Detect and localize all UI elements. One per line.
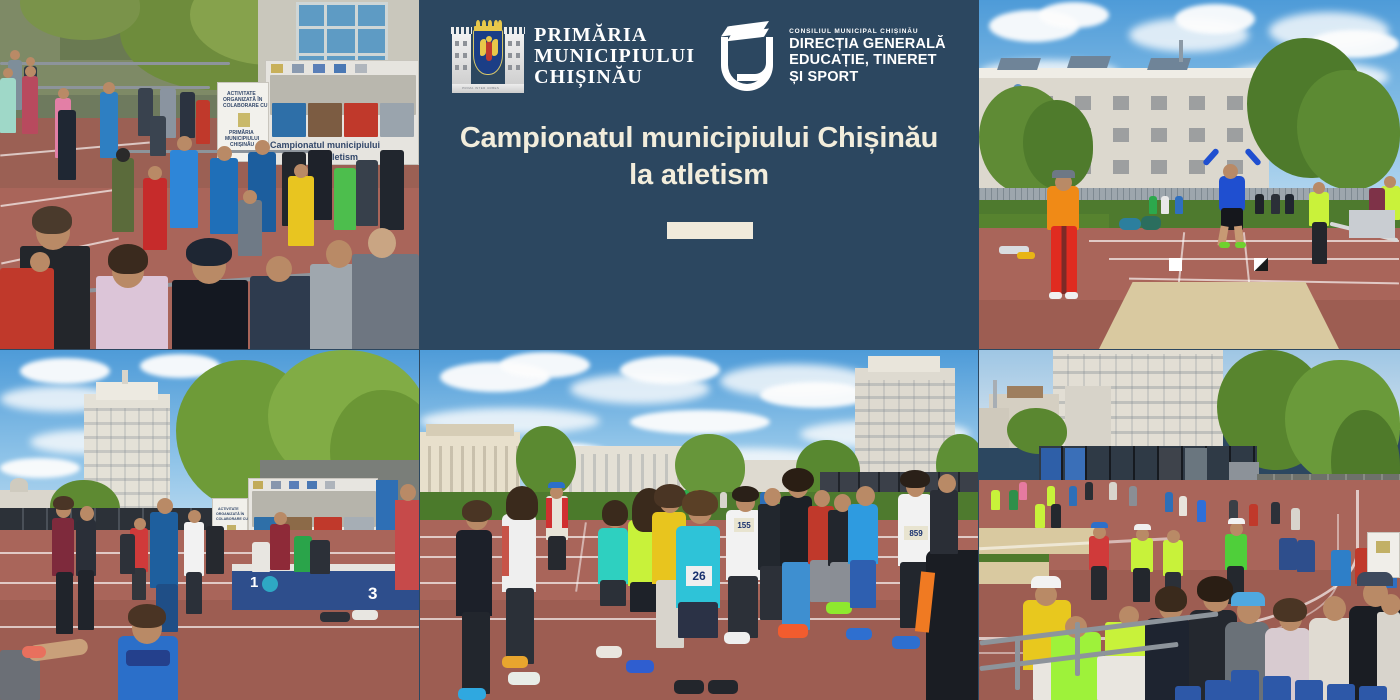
official-figure	[1047, 186, 1079, 230]
primaria-logo: PRIMA INTER URBES PRIMĂRIA MUNICIPIULUI …	[452, 17, 695, 95]
primaria-wordmark: PRIMĂRIA MUNICIPIULUI CHIȘINĂU	[534, 25, 695, 88]
photo-top-left: Campionatul municipiului la atletism ACT…	[0, 0, 419, 349]
photo-top-right	[979, 0, 1400, 349]
page-title-line-2: la atletism	[449, 157, 949, 194]
photo-bottom-left: Campionatul municipiului Chișinău la atl…	[0, 350, 419, 700]
dgets-line-1: DIRECȚIA GENERALĂ	[789, 36, 946, 53]
dgets-wordmark: CONSILIUL MUNICIPAL CHIȘINĂU DIRECȚIA GE…	[789, 27, 946, 86]
page-title-line-1: Campionatul municipiului Chișinău	[449, 120, 949, 157]
graduation-cap-monogram-icon	[717, 19, 779, 93]
sign-bl-line-2: ORGANIZATĂ ÎN	[216, 512, 244, 516]
logo-row: PRIMA INTER URBES PRIMĂRIA MUNICIPIULUI …	[419, 10, 979, 102]
banner-line-1: Campionatul municipiului	[270, 140, 380, 150]
sign-line-6: CHIȘINĂU	[230, 142, 254, 148]
foreground-athlete	[118, 636, 178, 700]
title-divider	[667, 222, 753, 239]
photo-collage: Campionatul municipiului la atletism ACT…	[0, 0, 1400, 700]
long-jump-athlete	[1219, 176, 1245, 212]
eagle-emblem-icon	[480, 37, 498, 67]
plinth: PRIMA INTER URBES	[452, 84, 524, 93]
photo-bottom-right	[979, 350, 1400, 700]
bib-number: 26	[686, 566, 712, 586]
primaria-line-3: CHIȘINĂU	[534, 67, 695, 88]
page-title: Campionatul municipiului Chișinău la atl…	[449, 120, 949, 194]
lane-marker-1: 1	[250, 574, 258, 591]
sign-bl-line-1: ACTIVITATE	[218, 507, 239, 511]
dgets-eyebrow: CONSILIUL MUNICIPAL CHIȘINĂU	[789, 27, 946, 36]
sign-line-3: COLABORARE CU	[223, 103, 267, 109]
header-panel: PRIMA INTER URBES PRIMĂRIA MUNICIPIULUI …	[419, 0, 979, 349]
primaria-line-1: PRIMĂRIA	[534, 25, 695, 46]
plinth-motto: PRIMA INTER URBES	[462, 86, 499, 90]
dgets-logo: CONSILIUL MUNICIPAL CHIȘINĂU DIRECȚIA GE…	[717, 19, 946, 93]
dgets-line-2: EDUCAȚIE, TINERET	[789, 52, 946, 69]
shield-icon	[473, 29, 503, 75]
photo-bottom-centre: 26 155	[420, 350, 978, 700]
chisinau-coat-of-arms-icon: PRIMA INTER URBES	[452, 17, 524, 95]
bib-number-2: 155	[734, 518, 754, 532]
bib-number-3: 859	[904, 526, 928, 540]
lane-marker-3: 3	[368, 584, 377, 604]
crown-icon	[474, 20, 502, 31]
sign-bl-line-3: COLABORARE CU	[216, 517, 248, 521]
primaria-line-2: MUNICIPIULUI	[534, 46, 695, 67]
dgets-line-3: ȘI SPORT	[789, 69, 946, 86]
